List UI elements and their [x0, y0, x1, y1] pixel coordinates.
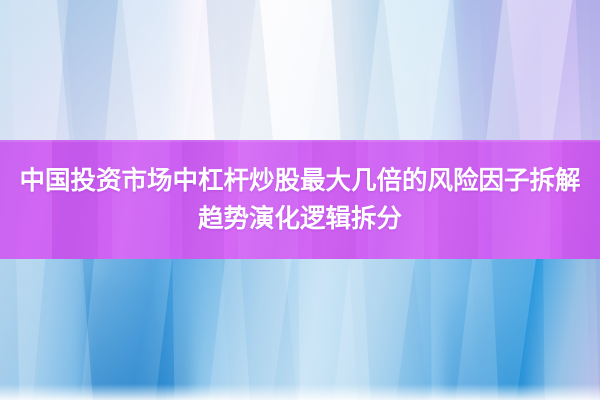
cyan-tint-left	[0, 0, 180, 142]
lavender-tint-right	[456, 0, 600, 142]
banner-title-line-1: 中国投资市场中杠杆炒股最大几倍的风险因子拆解	[19, 164, 580, 198]
decorative-article-banner: 中国投资市场中杠杆炒股最大几倍的风险因子拆解 趋势演化逻辑拆分	[0, 0, 600, 400]
deep-blue-accent-left	[84, 279, 192, 400]
top-gradient-zone	[0, 0, 600, 142]
banner-title-line-2: 趋势演化逻辑拆分	[198, 202, 402, 236]
banner-title: 中国投资市场中杠杆炒股最大几倍的风险因子拆解 趋势演化逻辑拆分	[0, 140, 600, 259]
faint-watermark	[296, 378, 322, 390]
